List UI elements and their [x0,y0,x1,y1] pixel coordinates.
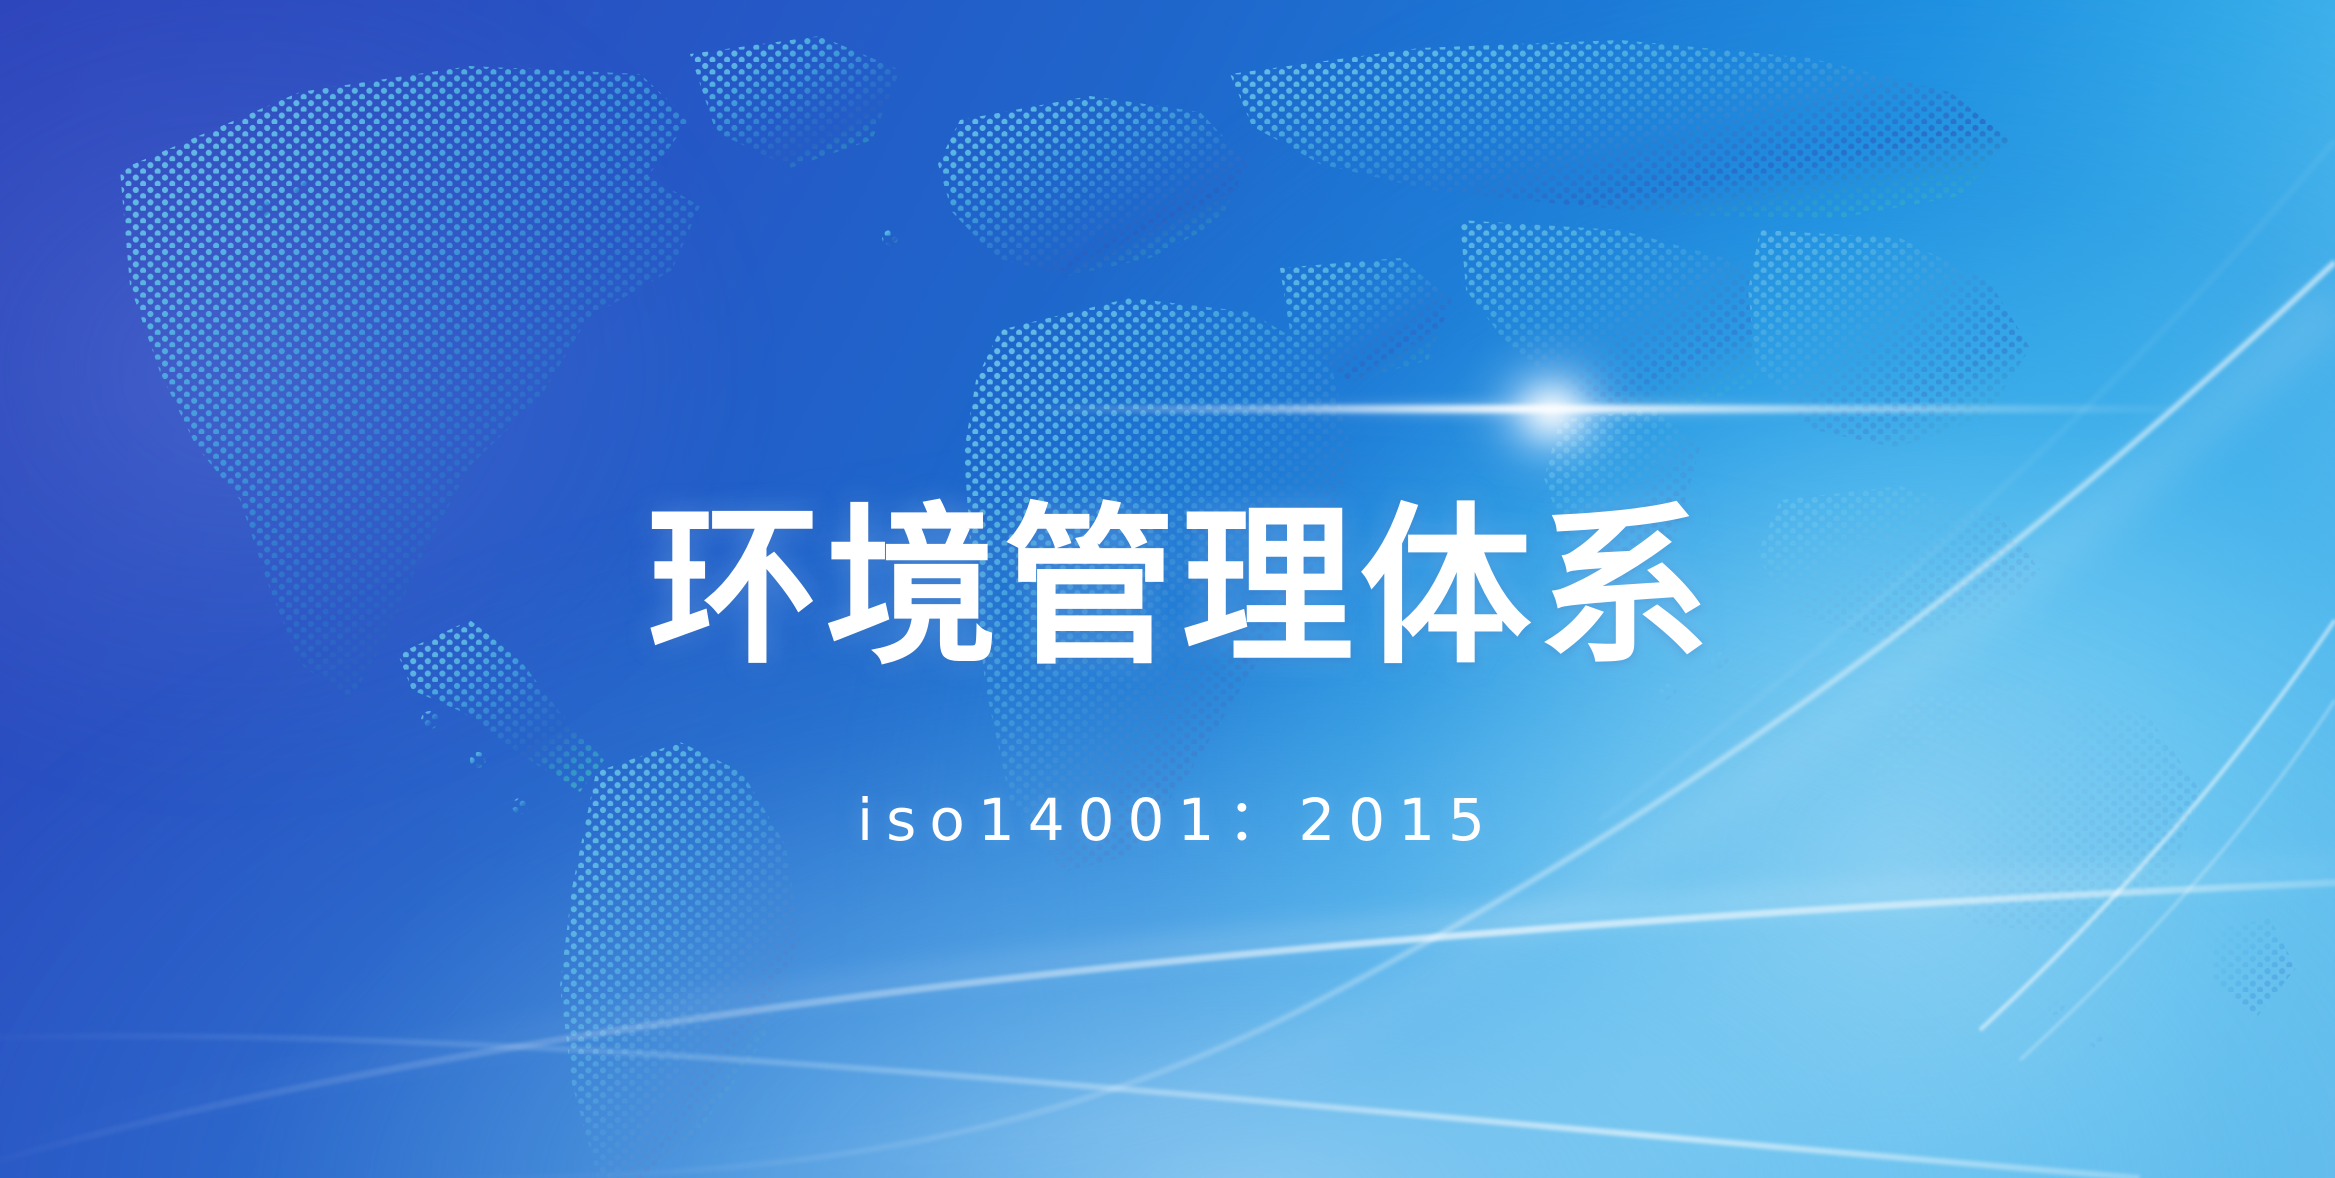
slide-content: 环境管理体系 iso14001：2015 [0,0,2335,1178]
slide-subtitle: iso14001：2015 [10,787,2335,854]
slide-title: 环境管理体系 [14,495,2335,681]
title-slide: 环境管理体系 iso14001：2015 [0,0,2335,1178]
